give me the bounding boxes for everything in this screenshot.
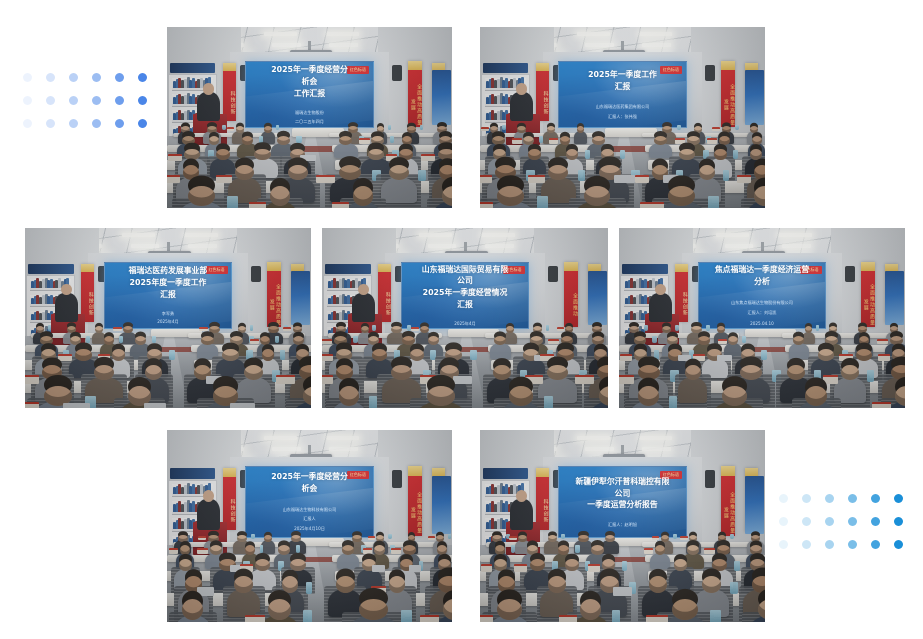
ceiling-lamp xyxy=(329,43,358,46)
attendee-head xyxy=(234,576,253,592)
water-bottle xyxy=(723,170,729,181)
screen-title-line: 新疆伊犁尔汗普科瑞控有限公司 xyxy=(568,476,678,500)
scene-photo-5: 科技创新全面推动高质量发展全面推动高质量发展红色标语焦点福瑞达一季度经济运营分析… xyxy=(619,228,905,408)
screen-title-block: 2025年一季度工作汇报 xyxy=(580,69,664,93)
water-bottle xyxy=(246,350,252,359)
red-banner-left: 科技创新 xyxy=(81,264,94,322)
attendee-head xyxy=(389,165,409,180)
screen-title-block: 2025年一季度经营分析会工作汇报 xyxy=(263,64,355,99)
attendee-head xyxy=(629,326,639,333)
screen-subtitle-line: 汇报人 xyxy=(283,516,337,523)
ceiling-lamp xyxy=(485,244,514,247)
water-bottle xyxy=(511,545,515,553)
ceiling-lamp xyxy=(585,43,614,46)
water-bottle xyxy=(152,336,157,343)
projection-screen: 红色标语新疆伊犁尔汗普科瑞控有限公司一季度运营分析报告汇报人：赵明旭 xyxy=(558,466,686,537)
decor-dot xyxy=(894,494,903,503)
name-plate xyxy=(249,202,267,208)
attendee-head xyxy=(691,326,701,333)
name-plate xyxy=(25,402,39,408)
attendee-head xyxy=(374,545,385,555)
name-plate xyxy=(704,548,715,554)
attendee-head xyxy=(293,326,302,333)
photo-row3-right[interactable]: 科技创新全面推动高质量发展全面推动高质量发展红色标语新疆伊犁尔汗普科瑞控有限公司… xyxy=(480,430,765,622)
decor-dot xyxy=(825,517,834,526)
name-plate xyxy=(737,175,751,184)
red-banner-left: 科技创新 xyxy=(536,63,549,121)
attendee-head xyxy=(262,349,274,361)
screen-subtitle-line: 2025年4月 xyxy=(157,319,178,326)
attendee-head xyxy=(40,336,53,345)
attendee-head xyxy=(694,126,702,133)
banner-cap xyxy=(223,468,236,477)
water-bottle xyxy=(369,396,377,408)
attendee-head xyxy=(237,535,247,543)
attendee-head xyxy=(890,326,898,333)
wall-info-panel xyxy=(622,264,668,274)
name-plate xyxy=(250,339,259,345)
wall-info-panel xyxy=(170,468,216,479)
attendee-head xyxy=(268,599,291,620)
screen-title-line: 2025年一季度经营情况汇报 xyxy=(414,287,516,311)
rollup-poster xyxy=(291,271,310,325)
attendee-head xyxy=(592,336,604,345)
attendee-head xyxy=(182,599,203,620)
attendee-head xyxy=(825,336,838,345)
attendee-head xyxy=(348,126,358,133)
ceiling-lamp xyxy=(327,436,360,440)
water-bottle xyxy=(734,561,740,571)
water-bottle xyxy=(735,125,739,130)
attendee-head xyxy=(207,126,217,133)
attendee-head xyxy=(147,349,162,361)
decorative-dot-grid-right xyxy=(772,487,910,556)
name-plate xyxy=(359,138,369,144)
name-plate xyxy=(420,375,437,384)
attendee-head xyxy=(654,136,667,145)
water-bottle xyxy=(86,336,90,343)
decor-dot xyxy=(871,540,880,549)
name-plate xyxy=(712,127,720,131)
water-bottle xyxy=(673,534,676,540)
name-plate xyxy=(877,339,888,345)
ceiling-lamp xyxy=(272,43,301,46)
ceiling-lamp xyxy=(640,32,673,36)
red-banner-right: 全面推动 xyxy=(564,262,578,327)
wall-speaker-right xyxy=(392,65,402,81)
screen-subtitle-block: 福瑞达生物股份二〇二五年四月 xyxy=(295,109,324,126)
screen-subtitle-line: 汇报人：刘培凯 xyxy=(731,310,793,317)
name-plate xyxy=(332,202,349,208)
banner-cap xyxy=(721,466,735,476)
ceiling-lamp xyxy=(327,32,360,36)
rollup-poster xyxy=(745,476,764,534)
scene-photo-1: 科技创新全面推动高质量发展全面推动高质量发展红色标语2025年一季度经营分析会工… xyxy=(167,27,452,208)
attendee-head xyxy=(722,126,731,133)
attendee-head xyxy=(438,149,452,161)
decor-dot xyxy=(92,119,101,128)
attendee-head xyxy=(547,126,555,133)
name-plate xyxy=(839,354,853,361)
ceiling-lamp xyxy=(188,244,217,247)
screen-subtitle-line: 汇报人：赵明旭 xyxy=(608,522,637,529)
presenter-body xyxy=(649,293,672,322)
presenter-body xyxy=(510,499,533,530)
water-bottle xyxy=(306,582,312,594)
rollup-poster xyxy=(588,271,607,325)
attendee-head xyxy=(722,386,747,405)
attendee-head xyxy=(201,336,213,345)
attendee-head xyxy=(402,336,415,345)
name-plate xyxy=(575,375,594,384)
attendee-head xyxy=(352,535,362,543)
decor-dot xyxy=(46,119,55,128)
laptop xyxy=(144,403,166,408)
name-plate xyxy=(549,138,558,144)
name-plate xyxy=(823,375,838,384)
scene-photo-7: 科技创新全面推动高质量发展全面推动高质量发展红色标语新疆伊犁尔汗普科瑞控有限公司… xyxy=(480,430,765,622)
water-bottle xyxy=(388,125,391,130)
screen-title-line: 2025年一季度经营分析会 xyxy=(263,471,355,495)
water-bottle xyxy=(654,350,659,359)
ceiling-lamp xyxy=(264,32,297,36)
attendee-head xyxy=(560,136,571,145)
banner-cap xyxy=(536,63,549,71)
attendee-head xyxy=(209,326,219,333)
wall-speaker-right xyxy=(705,65,715,81)
laptop xyxy=(230,403,255,408)
decor-dot xyxy=(23,73,32,82)
screen-subtitle-block: 李军勇2025年4月 xyxy=(157,310,178,326)
decor-dot xyxy=(92,73,101,82)
attendee-head xyxy=(557,349,574,361)
water-bottle xyxy=(730,582,738,594)
wall-info-panel xyxy=(325,264,371,274)
attendee-head xyxy=(818,349,834,361)
red-banner-left: 科技创新 xyxy=(223,63,236,121)
name-plate xyxy=(512,138,521,144)
attendee-head xyxy=(242,136,253,145)
name-plate xyxy=(98,354,109,361)
water-bottle xyxy=(259,136,263,143)
water-bottle xyxy=(761,350,767,359)
attendee-head xyxy=(222,349,238,361)
decor-dot xyxy=(115,73,124,82)
red-banner-right: 全面推动高质量发展 xyxy=(267,262,281,327)
attendee-head xyxy=(492,535,501,543)
attendee xyxy=(574,131,587,143)
water-bottle xyxy=(470,350,477,359)
name-plate xyxy=(481,564,492,572)
photo-row2-right[interactable]: 科技创新全面推动高质量发展全面推动高质量发展红色标语焦点福瑞达一季度经济运营分析… xyxy=(619,228,905,408)
decor-dot xyxy=(825,494,834,503)
decor-dot xyxy=(23,96,32,105)
name-plate xyxy=(680,536,687,540)
ceiling-lamp xyxy=(482,233,515,237)
water-bottle xyxy=(401,610,412,622)
ceiling-lamp xyxy=(782,244,811,247)
attendee-head xyxy=(427,386,455,405)
attendee-head xyxy=(592,136,604,145)
wall-info-panel xyxy=(170,63,216,73)
screen-subtitle-line: 李军勇 xyxy=(157,311,178,318)
name-plate xyxy=(480,202,493,208)
decor-dot xyxy=(802,517,811,526)
attendee-head xyxy=(497,186,524,206)
presenter-head xyxy=(516,490,527,502)
attendee-head xyxy=(282,576,298,592)
attendee-head xyxy=(668,186,695,206)
attendee-head xyxy=(533,326,541,333)
name-plate xyxy=(391,548,402,554)
attendee-head xyxy=(268,326,278,333)
photo-row2-left[interactable]: 科技创新全面推动高质量发展全面推动高质量发展红色标语福瑞达医药发展事业部2025… xyxy=(25,228,311,408)
attendee-head xyxy=(805,386,827,405)
ceiling-lamp xyxy=(642,43,671,46)
water-bottle xyxy=(710,610,720,622)
ceiling-lamp xyxy=(779,233,812,237)
attendee-head xyxy=(561,336,573,345)
red-banner-left: 科技创新 xyxy=(223,468,236,529)
attendee-head xyxy=(288,165,307,180)
attendee-head xyxy=(752,576,765,592)
attendee-head xyxy=(208,535,218,543)
laptop xyxy=(613,587,632,595)
screen-subtitle-block: 汇报人：赵明旭 xyxy=(608,520,637,528)
screen-subtitle-line: 山东焦点福瑞达生物股份有限公司 xyxy=(731,300,793,307)
water-bottle xyxy=(620,150,625,159)
attendee-head xyxy=(741,349,755,361)
banner-cap xyxy=(861,262,875,271)
presenter-body xyxy=(197,92,220,121)
attendee xyxy=(261,131,276,143)
laptop xyxy=(206,376,223,384)
name-plate xyxy=(588,564,599,572)
decor-dot xyxy=(894,517,903,526)
scene-photo-6: 科技创新全面推动高质量发展全面推动高质量发展红色标语2025年一季度经营分析会山… xyxy=(167,430,452,622)
wall-speaker-right xyxy=(392,470,402,487)
decor-dot xyxy=(138,96,147,105)
screen-title-line: 焦点福瑞达一季度经济运营分析 xyxy=(707,264,817,288)
attendee-head xyxy=(638,386,659,405)
name-plate xyxy=(559,615,577,622)
name-plate xyxy=(675,138,686,144)
ceiling-lamp xyxy=(185,233,218,237)
laptop xyxy=(614,175,635,183)
screen-title-block: 山东福瑞达国际贸易有限公司2025年一季度经营情况汇报 xyxy=(414,264,516,311)
attendee-head xyxy=(594,349,607,361)
attendee-head xyxy=(403,545,415,555)
name-plate xyxy=(528,175,545,184)
attendee-head xyxy=(359,599,387,620)
ceiling-lamp xyxy=(329,447,358,451)
wall-info-panel xyxy=(28,264,74,274)
water-bottle xyxy=(730,534,733,540)
name-plate xyxy=(540,354,554,361)
attendee-head xyxy=(858,326,867,333)
decor-dot xyxy=(46,73,55,82)
red-banner-left: 科技创新 xyxy=(378,264,391,322)
water-bottle xyxy=(388,534,391,540)
name-plate xyxy=(371,586,386,595)
screen-subtitle-line: 2025年4月10日 xyxy=(283,526,337,533)
name-plate xyxy=(411,327,419,331)
attendee-head xyxy=(336,349,353,361)
laptop xyxy=(453,376,472,384)
wall-info-panel xyxy=(483,63,529,73)
decor-dot xyxy=(138,119,147,128)
attendee-head xyxy=(182,136,195,145)
ceiling-lamp xyxy=(264,436,297,440)
banner-cap xyxy=(223,63,236,71)
attendee-head xyxy=(548,535,557,543)
presenter-head xyxy=(203,83,214,95)
decor-dot xyxy=(848,540,857,549)
name-plate xyxy=(557,327,564,331)
water-bottle xyxy=(296,545,301,553)
name-plate xyxy=(644,548,653,554)
attendee-head xyxy=(371,136,383,145)
photo-row2-center[interactable]: 科技创新全面推动全面推动红色标语山东福瑞达国际贸易有限公司2025年一季度经营情… xyxy=(322,228,608,408)
water-bottle xyxy=(372,325,375,330)
name-plate xyxy=(872,402,892,408)
decorative-dot-grid-left xyxy=(16,66,154,135)
name-plate xyxy=(693,354,706,361)
name-plate xyxy=(619,375,634,384)
attendee-head xyxy=(437,126,447,133)
attendee-head xyxy=(728,336,738,345)
photo-row1-right[interactable]: 科技创新全面推动高质量发展全面推动高质量发展红色标语2025年一季度工作汇报山东… xyxy=(480,27,765,208)
decor-dot xyxy=(848,494,857,503)
name-plate xyxy=(322,375,333,384)
name-plate xyxy=(420,615,439,622)
attendee-head xyxy=(649,576,667,592)
attendee-head xyxy=(361,326,369,333)
decor-dot xyxy=(802,540,811,549)
attendee-head xyxy=(42,365,61,380)
wall-speaker-right xyxy=(251,266,261,282)
attendee-head xyxy=(580,599,601,620)
attendee-head xyxy=(188,186,215,206)
presenter-body xyxy=(510,92,533,121)
laptop xyxy=(717,355,731,361)
screen-subtitle-line: 汇报人：张伟强 xyxy=(596,114,650,121)
attendee-head xyxy=(439,136,452,145)
attendee-head xyxy=(270,186,291,206)
attendee-head xyxy=(112,349,125,361)
name-plate xyxy=(25,375,39,384)
projection-screen: 红色标语2025年一季度工作汇报山东福瑞达医药集团有限公司汇报人：张伟强 xyxy=(558,61,686,128)
screen-title-line: 2025年一季度工作汇报 xyxy=(580,69,664,93)
decor-dot xyxy=(871,494,880,503)
decor-dot xyxy=(138,73,147,82)
attendee-head xyxy=(336,576,355,592)
photo-row3-left[interactable]: 科技创新全面推动高质量发展全面推动高质量发展红色标语2025年一季度经营分析会山… xyxy=(167,430,452,622)
attendee-head xyxy=(41,349,56,361)
attendee-head xyxy=(391,326,402,333)
ceiling-lamp xyxy=(131,244,160,247)
name-plate xyxy=(878,354,890,361)
attendee-head xyxy=(578,535,588,543)
attendee-head xyxy=(236,126,245,133)
ceiling-lamp xyxy=(585,447,614,451)
water-bottle xyxy=(733,150,738,159)
screen-title-line: 一季度运营分析报告 xyxy=(568,499,678,511)
attendee-head xyxy=(667,336,678,345)
attendee-head xyxy=(389,576,406,592)
name-plate xyxy=(245,615,265,622)
decor-dot xyxy=(871,517,880,526)
decor-dot xyxy=(23,119,32,128)
water-bottle xyxy=(544,396,553,408)
banner-cap xyxy=(675,264,688,272)
presenter-body xyxy=(352,293,375,322)
laptop xyxy=(678,355,692,361)
screen-subtitle-line: 山东福瑞达生物科技有限公司 xyxy=(283,507,337,514)
attendee xyxy=(802,332,816,344)
rollup-poster xyxy=(432,476,451,534)
water-bottle xyxy=(814,370,821,381)
laptop xyxy=(663,175,679,183)
water-bottle xyxy=(119,336,123,343)
name-plate xyxy=(652,536,659,540)
name-plate xyxy=(646,615,668,622)
screen-title-block: 2025年一季度经营分析会 xyxy=(263,471,355,495)
attendee-head xyxy=(584,186,610,206)
attendee-head xyxy=(672,599,698,620)
name-plate xyxy=(640,202,663,208)
photo-row1-left[interactable]: 科技创新全面推动高质量发展全面推动高质量发展红色标语2025年一季度经营分析会工… xyxy=(167,27,452,208)
attendee-head xyxy=(687,545,700,555)
attendee-head xyxy=(407,126,415,133)
attendee-head xyxy=(841,365,859,380)
red-banner-right: 全面推动高质量发展 xyxy=(721,466,735,535)
attendee-head xyxy=(264,126,272,133)
ceiling-lamp xyxy=(419,233,452,237)
attendee-head xyxy=(438,576,452,592)
presenter-body xyxy=(55,293,78,322)
ceiling-lamp xyxy=(577,436,610,440)
attendee-head xyxy=(180,545,190,555)
attendee-head xyxy=(548,576,566,592)
water-bottle xyxy=(48,325,51,330)
rollup-poster xyxy=(745,70,764,124)
projection-screen: 红色标语福瑞达医药发展事业部2025年度一季度工作汇报李军勇2025年4月 xyxy=(104,262,233,329)
attendee-head xyxy=(490,126,498,133)
water-bottle xyxy=(816,325,819,330)
laptop xyxy=(63,403,91,408)
ceiling-lamp xyxy=(122,233,155,237)
screen-title-block: 新疆伊犁尔汗普科瑞控有限公司一季度运营分析报告 xyxy=(568,476,678,511)
screen-title-line: 山东福瑞达国际贸易有限公司 xyxy=(414,264,516,288)
water-bottle xyxy=(222,125,226,130)
attendee-head xyxy=(178,535,188,543)
attendee-head xyxy=(752,136,762,145)
scene-photo-3: 科技创新全面推动高质量发展全面推动高质量发展红色标语福瑞达医药发展事业部2025… xyxy=(25,228,311,408)
attendee-head xyxy=(277,136,290,145)
decor-dot xyxy=(779,540,788,549)
name-plate xyxy=(368,536,375,540)
name-plate xyxy=(227,127,234,131)
name-plate xyxy=(707,138,717,144)
attendee xyxy=(649,143,672,159)
banner-cap xyxy=(81,264,94,272)
name-plate xyxy=(276,375,295,384)
attendee-head xyxy=(181,126,190,133)
attendee-head xyxy=(495,545,506,555)
name-plate xyxy=(428,536,435,540)
water-bottle xyxy=(296,136,301,143)
